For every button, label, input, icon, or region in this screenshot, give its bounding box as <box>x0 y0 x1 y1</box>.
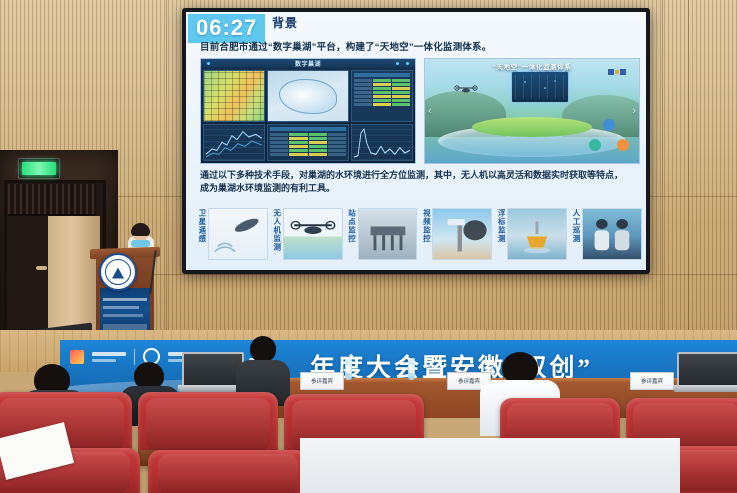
name-placard: 参评嘉宾 <box>630 372 674 390</box>
drone-icon <box>453 82 479 92</box>
table-row <box>354 103 410 106</box>
seat-cushion <box>158 454 299 493</box>
method-image-uav <box>283 208 343 260</box>
dashboard-status-dot-2 <box>396 62 399 65</box>
table-row <box>354 95 410 98</box>
method-item-video: 视频监控 <box>422 208 492 260</box>
table-row <box>270 137 346 140</box>
table-header-bar <box>270 127 346 131</box>
dashboard-title: 数字巢湖 <box>295 59 321 68</box>
water-bottle <box>345 358 352 380</box>
method-label: 站点监控 <box>348 208 356 260</box>
slide-lead-text: 目前合肥市通过“数字巢湖”平台，构建了“天地空”一体化监测体系。 <box>200 39 636 53</box>
line-chart-right <box>352 125 412 160</box>
wall-seam-vertical-left <box>166 0 167 340</box>
status-table-card <box>267 124 349 161</box>
line-chart-left <box>204 125 264 160</box>
dashboard-left-column <box>203 70 265 161</box>
badge-orange <box>617 139 629 151</box>
indicator-table <box>352 71 412 121</box>
wall-seam-vertical-right <box>688 0 689 360</box>
slide-paragraph: 通过以下多种技术手段，对巢湖的水环境进行全方位监测，其中，无人机以高灵活和数据实… <box>200 169 628 195</box>
water-bottle <box>408 358 415 380</box>
podium-banner-line <box>103 298 147 301</box>
logo-wordmark-line <box>92 359 116 362</box>
slide-title: 背景 <box>272 14 298 31</box>
laptop <box>178 352 244 392</box>
university-seal-emblem <box>99 253 137 291</box>
table-row <box>270 149 346 152</box>
dashboard-status-dot-3 <box>406 62 409 65</box>
table-row <box>354 79 410 82</box>
presenter-scarf <box>131 240 150 247</box>
table-row <box>354 87 410 90</box>
laptop-keyboard-base[interactable] <box>673 385 737 392</box>
podium-banner-line <box>103 314 143 317</box>
line-chart-card-left <box>203 124 265 161</box>
conference-room-photo: 背景 06:27 目前合肥市通过“数字巢湖”平台，构建了“天地空”一体化监测体系… <box>0 0 737 493</box>
indicator-list-card <box>351 70 413 122</box>
exit-sign-glow <box>22 162 56 175</box>
seat-cushion <box>146 398 269 451</box>
foreground-desk-surface <box>300 438 680 493</box>
method-image-satellite <box>208 208 268 260</box>
dashboard-header: 数字巢湖 <box>201 59 415 68</box>
table-row <box>270 141 346 144</box>
seat-cushion <box>671 450 737 490</box>
line-chart-card-right <box>351 124 413 161</box>
method-item-satellite: 卫星遥感 <box>198 208 268 260</box>
method-label: 人工巡测 <box>572 208 580 260</box>
badge-blue <box>603 119 615 131</box>
door-handle[interactable] <box>36 266 47 270</box>
laptop <box>673 352 737 392</box>
dashboard-right-column <box>351 70 413 161</box>
logo-wordmark-line <box>92 352 126 356</box>
seal-inner-ring <box>105 259 131 285</box>
watershed-map-card <box>267 70 349 122</box>
door-transom-grille <box>8 184 96 216</box>
carousel-next-arrow[interactable]: › <box>632 105 636 117</box>
badge-teal <box>589 139 601 151</box>
carousel-prev-arrow[interactable]: ‹ <box>428 105 432 117</box>
illustration-title: “天地空”一体化监测体系 <box>425 61 639 71</box>
presenter-hair <box>131 223 150 236</box>
dashboard-panel: 数字巢湖 <box>200 58 416 164</box>
method-item-manual: 人工巡测 <box>572 208 642 260</box>
slide-panel-row: 数字巢湖 <box>200 58 640 164</box>
monitoring-badge-cluster <box>589 119 633 153</box>
method-label: 浮标监测 <box>497 208 505 260</box>
method-item-buoy: 浮标监测 <box>497 208 567 260</box>
presentation-slide: 背景 06:27 目前合肥市通过“数字巢湖”平台，构建了“天地空”一体化监测体系… <box>186 12 646 270</box>
projection-screen: 背景 06:27 目前合肥市通过“数字巢湖”平台，构建了“天地空”一体化监测体系… <box>182 8 650 274</box>
table-row <box>270 153 346 156</box>
method-label: 视频监控 <box>422 208 430 260</box>
table-row <box>354 91 410 94</box>
table-row <box>270 145 346 148</box>
illustration-monitor-screen <box>511 71 569 103</box>
method-label: 无人机监测 <box>273 208 281 260</box>
method-item-uav: 无人机监测 <box>273 208 343 260</box>
table-row <box>270 133 346 136</box>
table-row <box>354 99 410 102</box>
wall-seam-vertical-right2 <box>662 0 663 360</box>
status-table <box>268 125 348 160</box>
heatmap-chart <box>204 71 264 121</box>
method-item-station: 站点监控 <box>348 208 418 260</box>
name-placard: 参评嘉宾 <box>300 372 344 390</box>
method-image-buoy <box>507 208 567 260</box>
green-field-island <box>472 117 592 137</box>
heatmap-card <box>203 70 265 122</box>
exit-sign <box>18 158 60 179</box>
method-image-video <box>432 208 492 260</box>
method-image-station <box>358 208 418 260</box>
illustration-panel: “天地空”一体化监测体系 <box>424 58 640 164</box>
indicator-header-bar <box>354 73 410 77</box>
dashboard-status-dot-1 <box>207 62 210 65</box>
podium-banner-line <box>103 306 139 309</box>
monitoring-methods-row: 卫星遥感 无人机监测 <box>198 208 642 260</box>
dashboard-body <box>203 70 413 161</box>
attendee-head <box>250 336 276 362</box>
method-image-manual <box>582 208 642 260</box>
laptop-keyboard-base[interactable] <box>178 385 244 392</box>
watershed-map <box>268 71 348 121</box>
association-logo-icon <box>70 350 84 364</box>
auditorium-seat-front[interactable] <box>148 450 308 493</box>
dashboard-center-column <box>267 70 349 161</box>
table-row <box>354 83 410 86</box>
method-label: 卫星遥感 <box>198 208 206 260</box>
